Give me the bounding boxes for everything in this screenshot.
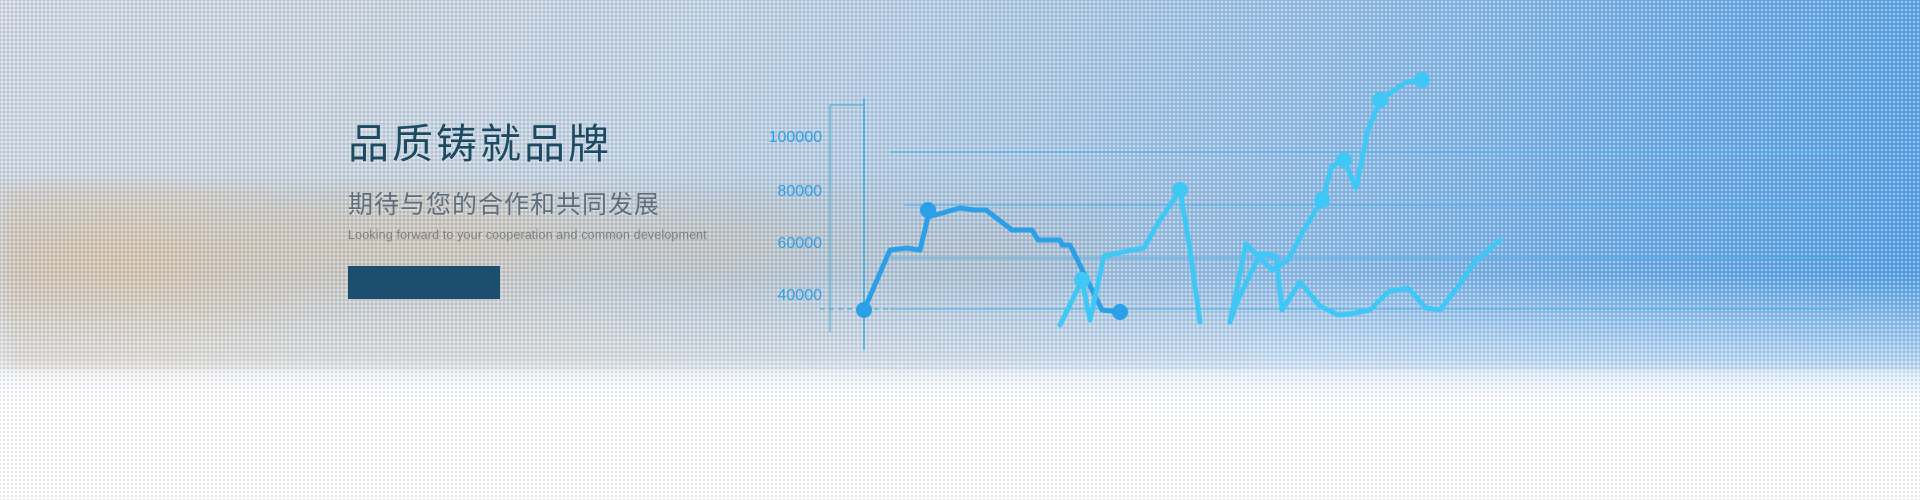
data-point-marker [856, 302, 872, 318]
y-tick-label: 80000 [778, 183, 823, 200]
data-point-marker [1414, 72, 1430, 88]
data-point-marker [1336, 152, 1352, 168]
data-point-marker [1314, 192, 1330, 208]
page-subtitle: 期待与您的合作和共同发展 [348, 193, 768, 218]
hero-text-block: 品质铸就品牌 期待与您的合作和共同发展 Looking forward to y… [348, 124, 768, 299]
hero-banner: 品质铸就品牌 期待与您的合作和共同发展 Looking forward to y… [0, 0, 1920, 500]
chart-series-4 [1230, 72, 1430, 322]
page-title: 品质铸就品牌 [348, 124, 768, 165]
cta-button[interactable] [348, 266, 500, 299]
y-tick-label: 40000 [778, 287, 823, 304]
data-point-marker [1112, 304, 1128, 320]
y-tick-label: 100000 [769, 129, 822, 146]
chart-y-axis-labels: 100000 80000 60000 40000 [769, 129, 822, 304]
y-tick-label: 60000 [778, 235, 823, 252]
page-subtitle-english: Looking forward to your cooperation and … [348, 229, 768, 242]
data-point-marker [920, 202, 936, 218]
data-point-marker [1074, 272, 1090, 288]
data-point-marker [1372, 92, 1388, 108]
chart-gridlines [820, 152, 1850, 309]
chart-series-3 [1230, 240, 1500, 322]
chart-svg: 100000 80000 60000 40000 [760, 60, 1920, 360]
data-point-marker [1172, 182, 1188, 198]
line-chart: 100000 80000 60000 40000 [760, 60, 1920, 360]
chart-series-2 [1060, 182, 1200, 325]
